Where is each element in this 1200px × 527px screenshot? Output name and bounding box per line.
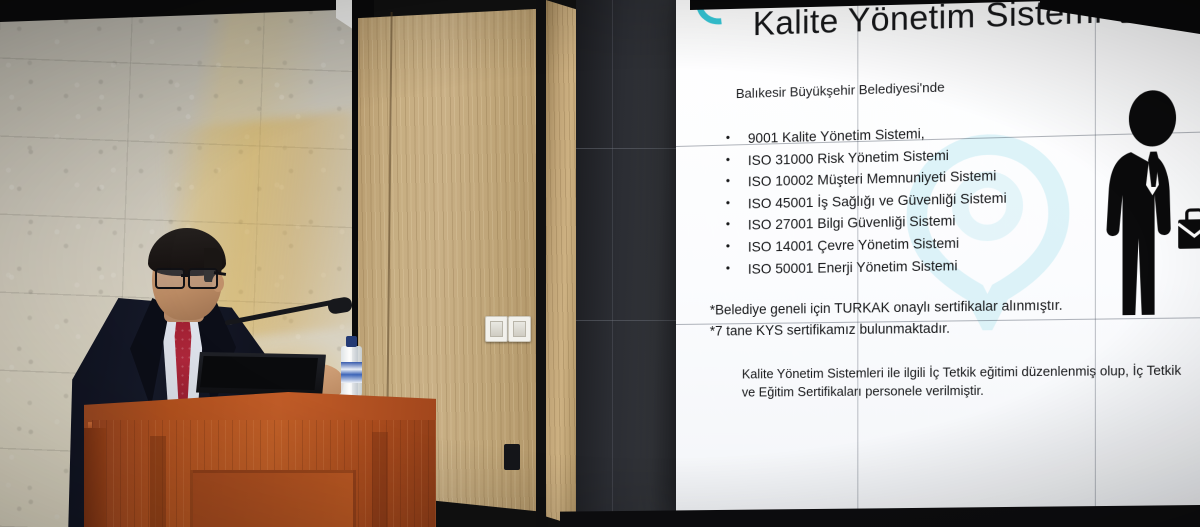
presentation-scene: BALIKESİR BÜYÜKŞEHİR BELEDİYESİ Kalite Y… [0, 0, 1200, 527]
lectern-front-panel [190, 470, 356, 527]
bottle-cap [346, 336, 357, 347]
light-switch-right[interactable] [508, 316, 531, 342]
bullet-item: ISO 50001 Enerji Yönetim Sistemi [716, 254, 1007, 281]
lectern-side-panel [84, 428, 106, 527]
light-switch-rocker [490, 321, 503, 337]
water-bottle [341, 336, 362, 398]
businessman-with-briefcase-icon [1099, 85, 1200, 322]
glasses-lens-left [155, 268, 185, 289]
microphone-head [327, 296, 353, 315]
footnote-line: *Belediye geneli için TURKAK onaylı sert… [710, 294, 1063, 320]
lectern-pilaster-right [372, 432, 388, 527]
slide-bullet-list: 9001 Kalite Yönetim Sistemi, ISO 31000 R… [716, 121, 1007, 281]
eyeglasses-icon [155, 268, 221, 286]
presentation-video-wall: BALIKESİR BÜYÜKŞEHİR BELEDİYESİ Kalite Y… [676, 0, 1200, 518]
led-panel-seam-v [1095, 0, 1096, 517]
wall-outlet[interactable] [504, 444, 520, 470]
glasses-bridge [181, 274, 190, 277]
light-switch-left[interactable] [485, 316, 508, 342]
lectern-pilaster-left [150, 436, 166, 527]
microphone-stem [225, 299, 336, 325]
gooseneck-microphone [224, 300, 354, 326]
footnote-line: *7 tane KYS sertifikamız bulunmaktadır. [710, 316, 1063, 342]
slide-paragraph: Kalite Yönetim Sistemleri ile ilgili İç … [742, 361, 1189, 401]
slide-footnotes: *Belediye geneli için TURKAK onaylı sert… [710, 294, 1063, 341]
wood-corner-strip [546, 0, 580, 527]
bottle-label [341, 362, 362, 383]
laptop-screen [200, 356, 318, 390]
panel-seam-vertical [612, 0, 613, 527]
slide-content: BALIKESİR BÜYÜKŞEHİR BELEDİYESİ Kalite Y… [676, 0, 1200, 518]
slide-subtitle: Balıkesir Büyükşehir Belediyesi'nde [736, 79, 945, 101]
light-switch-rocker [513, 321, 526, 337]
